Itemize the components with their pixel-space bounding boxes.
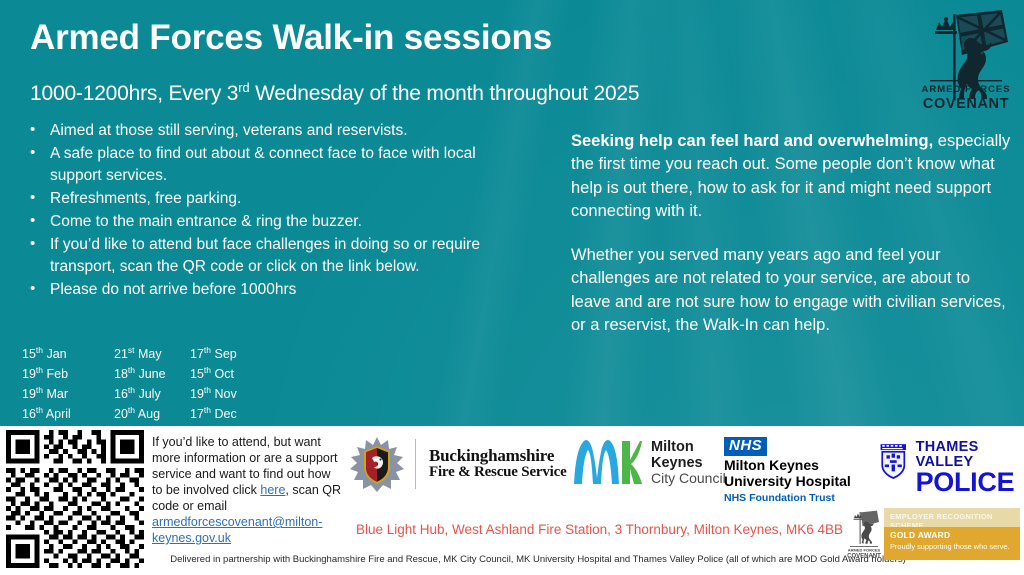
gold-award-label: GOLD AWARD <box>890 530 1014 540</box>
list-item: If you’d like to attend but face challen… <box>22 234 527 278</box>
date-day: 17 <box>190 408 204 422</box>
date-day: 19 <box>22 387 36 401</box>
lead-sentence: Seeking help can feel hard and overwhelm… <box>571 132 933 150</box>
police-logo-text: THAMES VALLEY POLICE <box>916 440 1022 496</box>
list-item: Refreshments, free parking. <box>22 188 527 210</box>
right-text-column: Seeking help can feel hard and overwhelm… <box>571 130 1011 337</box>
svg-text:COVENANT: COVENANT <box>847 553 881 559</box>
nhs-foundation-trust-label: NHS Foundation Trust <box>724 492 851 504</box>
mk-logo-line1: Milton <box>651 439 726 455</box>
list-item: Come to the main entrance & ring the buz… <box>22 211 527 233</box>
poster: Armed Forces Walk-in sessions 1000-1200h… <box>0 0 1024 575</box>
date-month: Sep <box>214 347 236 361</box>
date-cell: 16th July <box>114 384 190 404</box>
logo-bucks-fire-rescue: Buckinghamshire Fire & Rescue Service <box>350 436 567 492</box>
mk-logo-line3: City Council <box>651 471 726 487</box>
fire-logo-text: Buckinghamshire Fire & Rescue Service <box>429 447 567 481</box>
date-day: 19 <box>190 387 204 401</box>
date-day: 17 <box>190 347 204 361</box>
date-month: Mar <box>46 387 68 401</box>
date-cell: 16th April <box>22 404 114 424</box>
police-shield-icon <box>878 440 909 484</box>
police-logo-line2: POLICE <box>916 470 1022 496</box>
armed-forces-covenant-logo: ARMED FORCES COVENANT <box>916 6 1014 116</box>
footer-section: If you’d like to attend, but want more i… <box>0 426 1024 575</box>
nhs-badge: NHS <box>724 437 767 456</box>
date-cell: 17th Sep <box>190 344 259 364</box>
date-cell: 17th Dec <box>190 404 259 424</box>
gold-award-tagline: Proudly supporting those who serve. <box>890 542 1014 551</box>
subtitle: 1000-1200hrs, Every 3rd Wednesday of the… <box>30 80 639 106</box>
date-ordinal: th <box>204 385 211 395</box>
gold-award-body: GOLD AWARD Proudly supporting those who … <box>884 527 1020 560</box>
date-month: Feb <box>46 367 68 381</box>
date-month: May <box>138 347 162 361</box>
date-cell: 19th Feb <box>22 364 114 384</box>
date-ordinal: th <box>128 405 135 415</box>
date-cell: 18th June <box>114 364 190 384</box>
date-month: Jan <box>46 347 66 361</box>
gold-award-crest: ARMED FORCES COVENANT <box>844 508 884 560</box>
logo-mk-city-council: Milton Keynes City Council <box>572 438 726 488</box>
date-day: 16 <box>114 387 128 401</box>
date-ordinal: th <box>128 385 135 395</box>
subtitle-ordinal: rd <box>238 80 249 95</box>
fire-logo-line1: Buckinghamshire <box>429 447 567 465</box>
venue-address: Blue Light Hub, West Ashland Fire Statio… <box>356 522 856 537</box>
date-cell: 21st May <box>114 344 190 364</box>
date-month: July <box>138 387 160 401</box>
email-link[interactable]: armedforcescovenant@milton-keynes.gov.uk <box>152 515 322 545</box>
date-cell: 20th Aug <box>114 404 190 424</box>
date-day: 21 <box>114 347 128 361</box>
date-month: Oct <box>214 367 233 381</box>
paragraph-1: Seeking help can feel hard and overwhelm… <box>571 130 1011 224</box>
date-day: 18 <box>114 367 128 381</box>
date-month: Nov <box>214 387 236 401</box>
session-dates-table: 15th Jan 21st May 17th Sep 19th Feb 18th… <box>22 344 259 425</box>
date-ordinal: th <box>36 345 43 355</box>
gold-award-bands: EMPLOYER RECOGNITION SCHEME GOLD AWARD P… <box>884 508 1020 560</box>
covenant-crest-icon: ARMED FORCES COVENANT <box>847 509 881 559</box>
mk-logo-text: Milton Keynes City Council <box>651 439 726 488</box>
hero-section: Armed Forces Walk-in sessions 1000-1200h… <box>0 0 1024 426</box>
date-cell: 19th Mar <box>22 384 114 404</box>
mk-logo-line2: Keynes <box>651 455 726 471</box>
fire-logo-line2: Fire & Rescue Service <box>429 465 567 481</box>
logo-thames-valley-police: THAMES VALLEY POLICE <box>878 440 1022 496</box>
table-row: 15th Jan 21st May 17th Sep <box>22 344 259 364</box>
employer-recognition-scheme-label: EMPLOYER RECOGNITION SCHEME <box>884 508 1020 527</box>
date-ordinal: th <box>204 345 211 355</box>
date-cell: 15th Jan <box>22 344 114 364</box>
date-cell: 19th Nov <box>190 384 259 404</box>
list-item: Please do not arrive before 1000hrs <box>22 279 527 301</box>
table-row: 19th Feb 18th June 15th Oct <box>22 364 259 384</box>
svg-text:ARMED FORCES: ARMED FORCES <box>921 84 1010 95</box>
date-month: Aug <box>138 408 160 422</box>
invite-text-block: If you’d like to attend, but want more i… <box>152 434 342 546</box>
nhs-trust-name: Milton Keynes University Hospital <box>724 458 851 490</box>
date-day: 15 <box>22 347 36 361</box>
list-item: A safe place to find out about & connect… <box>22 143 527 187</box>
partner-logos-row: Buckinghamshire Fire & Rescue Service Mi… <box>350 434 1022 496</box>
employer-recognition-gold-award-badge: ARMED FORCES COVENANT EMPLOYER RECOGNITI… <box>844 508 1020 560</box>
date-day: 19 <box>22 367 36 381</box>
fire-service-crest-icon <box>350 436 404 492</box>
date-month: June <box>138 367 165 381</box>
subtitle-pre: 1000-1200hrs, Every 3 <box>30 82 238 105</box>
date-ordinal: th <box>204 365 211 375</box>
date-ordinal: th <box>36 385 43 395</box>
police-logo-line1: THAMES VALLEY <box>916 440 1022 469</box>
here-link[interactable]: here <box>260 483 285 497</box>
date-day: 16 <box>22 408 36 422</box>
subtitle-post: Wednesday of the month throughout 2025 <box>249 82 639 105</box>
date-cell: 15th Oct <box>190 364 259 384</box>
logo-divider <box>415 439 416 489</box>
list-item: Aimed at those still serving, veterans a… <box>22 120 527 142</box>
nhs-name-line2: University Hospital <box>724 474 851 490</box>
qr-code-icon[interactable] <box>6 430 144 568</box>
table-row: 16th April 20th Aug 17th Dec <box>22 404 259 424</box>
covenant-logo-icon: ARMED FORCES COVENANT <box>916 6 1014 116</box>
date-ordinal: th <box>36 405 43 415</box>
date-ordinal: th <box>204 405 211 415</box>
date-month: April <box>46 408 71 422</box>
bullet-list: Aimed at those still serving, veterans a… <box>22 120 527 302</box>
mk-monogram-icon <box>572 438 644 488</box>
page-title: Armed Forces Walk-in sessions <box>30 20 552 57</box>
table-row: 19th Mar 16th July 19th Nov <box>22 384 259 404</box>
date-ordinal: th <box>36 365 43 375</box>
nhs-name-line1: Milton Keynes <box>724 458 851 474</box>
logo-nhs-mkuh: NHS Milton Keynes University Hospital NH… <box>724 437 851 504</box>
svg-text:ARMED FORCES: ARMED FORCES <box>848 548 881 553</box>
qr-code-svg <box>6 430 144 568</box>
date-day: 20 <box>114 408 128 422</box>
date-month: Dec <box>214 408 236 422</box>
date-ordinal: th <box>128 365 135 375</box>
svg-text:COVENANT: COVENANT <box>923 96 1009 112</box>
partnership-note: Delivered in partnership with Buckingham… <box>148 554 928 565</box>
date-day: 15 <box>190 367 204 381</box>
date-ordinal: st <box>128 345 135 355</box>
paragraph-2: Whether you served many years ago and fe… <box>571 244 1011 338</box>
